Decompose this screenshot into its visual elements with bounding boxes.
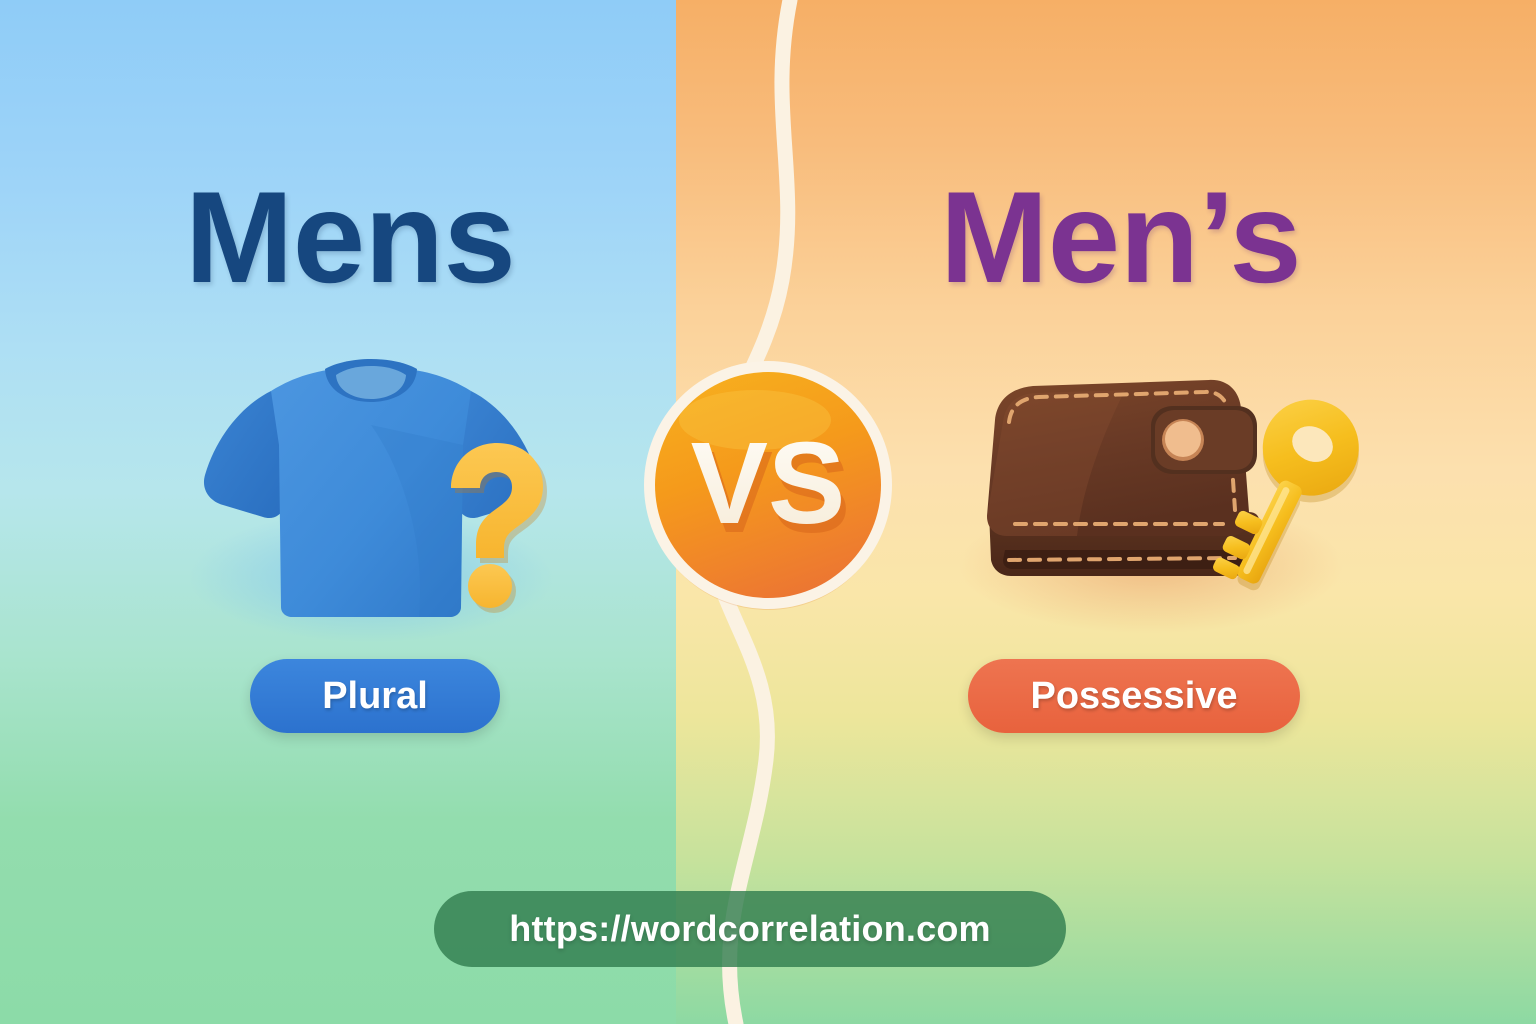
- website-url-bar[interactable]: https://wordcorrelation.com: [434, 891, 1066, 967]
- wallet-key-illustration: [955, 360, 1375, 650]
- right-title: Men’s: [940, 172, 1301, 302]
- plural-badge-label: Plural: [322, 675, 428, 718]
- comparison-graphic: Mens: [0, 0, 1536, 1024]
- website-url-text: https://wordcorrelation.com: [509, 908, 990, 950]
- tshirt-illustration: [175, 355, 565, 645]
- wallet-clasp-button: [1165, 421, 1201, 457]
- vs-badge: VS VS: [635, 352, 901, 618]
- possessive-badge[interactable]: Possessive: [968, 659, 1300, 733]
- possessive-badge-label: Possessive: [1030, 675, 1237, 718]
- left-title: Mens: [185, 172, 515, 302]
- vs-badge-text: VS: [691, 418, 846, 548]
- question-mark-dot: [468, 564, 512, 608]
- plural-badge[interactable]: Plural: [250, 659, 500, 733]
